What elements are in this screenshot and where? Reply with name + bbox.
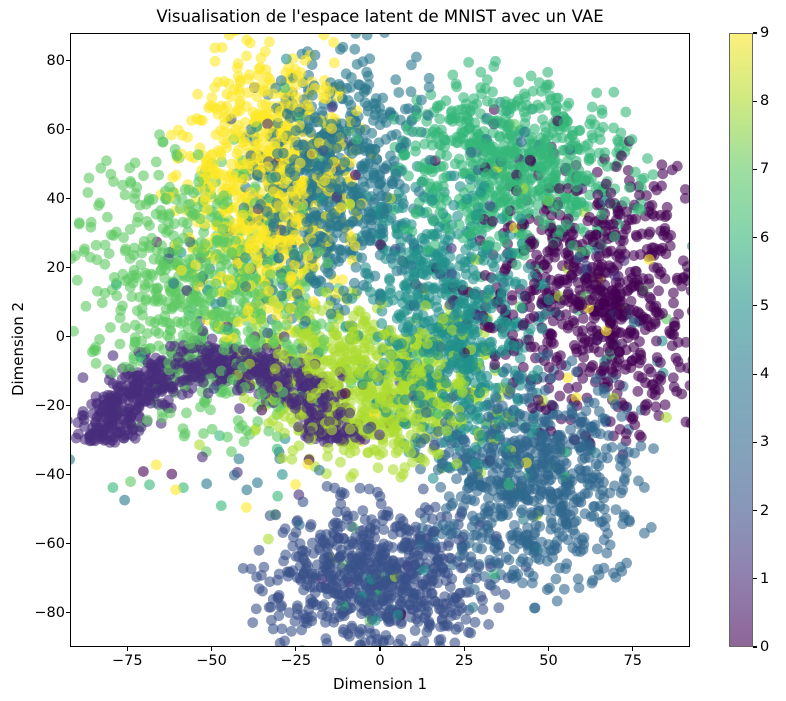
colorbar-tick-label: 1 bbox=[760, 571, 769, 587]
colorbar-tick-label: 6 bbox=[760, 230, 769, 246]
colorbar bbox=[729, 33, 753, 647]
x-tick-mark bbox=[295, 647, 296, 651]
x-tick-mark bbox=[127, 647, 128, 651]
chart-title: Visualisation de l'espace latent de MNIS… bbox=[70, 7, 690, 26]
y-tick-label: −20 bbox=[34, 398, 65, 414]
figure-container: Visualisation de l'espace latent de MNIS… bbox=[0, 0, 786, 701]
y-tick-label: 40 bbox=[47, 191, 65, 207]
x-tick-mark bbox=[464, 647, 465, 651]
colorbar-tick-label: 8 bbox=[760, 93, 769, 109]
colorbar-tick-mark bbox=[753, 101, 757, 102]
y-tick-mark bbox=[66, 543, 70, 544]
y-tick-mark bbox=[66, 336, 70, 337]
y-axis-label: Dimension 2 bbox=[9, 239, 27, 459]
colorbar-tick-mark bbox=[753, 442, 757, 443]
x-tick-label: 50 bbox=[539, 653, 557, 669]
colorbar-tick-mark bbox=[753, 510, 757, 511]
x-tick-mark bbox=[379, 647, 380, 651]
y-tick-mark bbox=[66, 405, 70, 406]
y-tick-label: 80 bbox=[47, 53, 65, 69]
colorbar-tick-label: 0 bbox=[760, 639, 769, 655]
colorbar-tick-mark bbox=[753, 169, 757, 170]
x-tick-label: −25 bbox=[280, 653, 311, 669]
y-tick-label: −40 bbox=[34, 467, 65, 483]
x-tick-label: −50 bbox=[196, 653, 227, 669]
colorbar-tick-mark bbox=[753, 646, 757, 647]
y-tick-label: 20 bbox=[47, 260, 65, 276]
y-tick-label: 60 bbox=[47, 122, 65, 138]
x-tick-label: 0 bbox=[375, 653, 384, 669]
x-axis-label: Dimension 1 bbox=[70, 675, 690, 693]
x-tick-label: −75 bbox=[112, 653, 143, 669]
colorbar-tick-mark bbox=[753, 305, 757, 306]
x-tick-label: 25 bbox=[455, 653, 473, 669]
colorbar-tick-label: 4 bbox=[760, 366, 769, 382]
x-tick-mark bbox=[548, 647, 549, 651]
colorbar-tick-mark bbox=[753, 237, 757, 238]
x-tick-mark bbox=[632, 647, 633, 651]
y-tick-mark bbox=[66, 198, 70, 199]
y-tick-mark bbox=[66, 60, 70, 61]
y-tick-mark bbox=[66, 474, 70, 475]
colorbar-gradient bbox=[729, 33, 753, 647]
colorbar-tick-label: 9 bbox=[760, 25, 769, 41]
colorbar-tick-label: 2 bbox=[760, 503, 769, 519]
y-tick-label: −60 bbox=[34, 536, 65, 552]
colorbar-tick-label: 3 bbox=[760, 434, 769, 450]
colorbar-tick-mark bbox=[753, 32, 757, 33]
y-tick-label: −80 bbox=[34, 605, 65, 621]
colorbar-tick-mark bbox=[753, 374, 757, 375]
scatter-plot-canvas bbox=[71, 34, 690, 647]
plot-area bbox=[70, 33, 690, 647]
colorbar-tick-label: 7 bbox=[760, 161, 769, 177]
y-tick-label: 0 bbox=[56, 329, 65, 345]
y-tick-mark bbox=[66, 267, 70, 268]
y-tick-mark bbox=[66, 129, 70, 130]
colorbar-tick-label: 5 bbox=[760, 298, 769, 314]
colorbar-tick-mark bbox=[753, 578, 757, 579]
y-tick-mark bbox=[66, 612, 70, 613]
x-tick-mark bbox=[211, 647, 212, 651]
x-tick-label: 75 bbox=[623, 653, 641, 669]
